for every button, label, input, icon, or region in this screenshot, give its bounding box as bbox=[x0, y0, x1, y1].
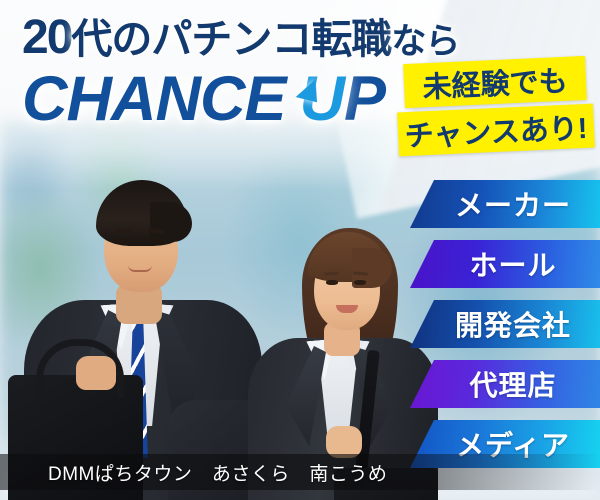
people-photo bbox=[0, 150, 430, 500]
logo-letter-p: P bbox=[344, 64, 385, 134]
credit-bar: DMMぱちタウン あさくら 南こうめ bbox=[0, 454, 600, 490]
man-hand bbox=[76, 356, 116, 390]
man-eye-left bbox=[118, 238, 131, 243]
woman-eye-right bbox=[354, 280, 366, 285]
category-badge-agency[interactable]: 代理店 bbox=[410, 360, 600, 408]
category-badge-maker-label: メーカー bbox=[439, 184, 571, 224]
category-badge-developer[interactable]: 開発会社 bbox=[410, 300, 600, 348]
person-man bbox=[18, 160, 268, 500]
headline-block: 20代のパチンコ転職なら CHANCEUP bbox=[22, 14, 459, 131]
sticker-chance-available: チャンスあり! bbox=[397, 104, 595, 157]
headline-line-1-tail: なら bbox=[391, 22, 459, 61]
man-hair bbox=[96, 180, 188, 246]
man-mouth bbox=[128, 265, 152, 272]
credit-text: DMMぱちタウン あさくら 南こうめ bbox=[0, 459, 387, 486]
logo-word-chance: CHANCE bbox=[22, 64, 286, 134]
headline-line-1-main: 代のパチンコ転職 bbox=[71, 16, 391, 62]
category-badge-hall-label: ホール bbox=[453, 244, 556, 284]
advertisement-banner[interactable]: 20代のパチンコ転職なら CHANCEUP 未経験でも チャンスあり! メーカー… bbox=[0, 0, 600, 500]
logo-chance-up: CHANCEUP bbox=[22, 68, 459, 131]
category-badge-maker[interactable]: メーカー bbox=[410, 180, 600, 228]
sticker-chance-available-label: チャンスあり! bbox=[404, 105, 589, 155]
man-eye-right bbox=[149, 238, 162, 243]
headline-number: 20 bbox=[22, 11, 71, 64]
category-badge-hall[interactable]: ホール bbox=[410, 240, 600, 288]
sticker-no-experience-label: 未経験でも bbox=[422, 58, 569, 107]
woman-eye-left bbox=[326, 280, 338, 285]
category-badge-developer-label: 開発会社 bbox=[439, 304, 571, 344]
category-badge-list: メーカー ホール 開発会社 代理店 メディア bbox=[410, 180, 600, 480]
sticker-no-experience: 未経験でも bbox=[403, 56, 587, 108]
headline-line-1: 20代のパチンコ転職なら bbox=[22, 14, 459, 62]
category-badge-agency-label: 代理店 bbox=[453, 364, 556, 404]
